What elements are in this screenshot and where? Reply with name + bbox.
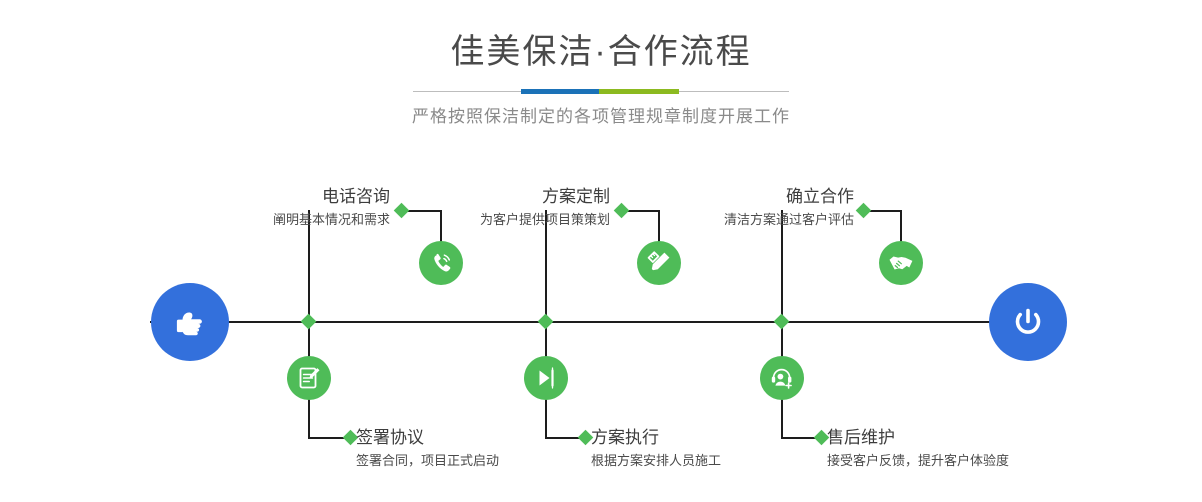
step-desc-6: 接受客户反馈，提升客户体验度 [827, 451, 1127, 471]
step-desc-5: 清洁方案通过客户评估 [604, 210, 854, 230]
pointing-hand-icon [169, 301, 211, 343]
play-next-icon [533, 365, 559, 391]
pencil-ruler-icon [645, 249, 673, 277]
step-desc-3: 为客户提供项目策策划 [360, 210, 610, 230]
header: 佳美保洁·合作流程 严格按照保洁制定的各项管理规章制度开展工作 [0, 30, 1202, 129]
label-marker-5 [856, 203, 872, 219]
title-divider [413, 88, 789, 96]
divider-segment-blue [521, 89, 599, 94]
step-icon-4[interactable] [524, 356, 568, 400]
step-title-6: 售后维护 [827, 427, 1127, 449]
step-desc-1: 阐明基本情况和需求 [140, 210, 390, 230]
divider-segment-green [599, 89, 679, 94]
step-title-5: 确立合作 [604, 186, 854, 208]
timeline-node-marker-6 [774, 314, 790, 330]
step-label-1: 电话咨询 阐明基本情况和需求 [140, 186, 390, 230]
timeline-node-marker-2 [301, 314, 317, 330]
timeline-axis [150, 321, 1052, 323]
document-edit-icon [296, 365, 322, 391]
flow-end-marker [989, 283, 1067, 361]
timeline-node-marker-4 [538, 314, 554, 330]
step-icon-3[interactable] [637, 241, 681, 285]
step-icon-6[interactable] [760, 356, 804, 400]
process-flow-infographic: 佳美保洁·合作流程 严格按照保洁制定的各项管理规章制度开展工作 [0, 0, 1202, 502]
step-icon-2[interactable] [287, 356, 331, 400]
power-icon [1007, 301, 1049, 343]
page-title: 佳美保洁·合作流程 [0, 30, 1202, 74]
customer-support-icon [769, 365, 795, 391]
page-subtitle: 严格按照保洁制定的各项管理规章制度开展工作 [0, 105, 1202, 129]
step-icon-5[interactable] [879, 241, 923, 285]
step-label-5: 确立合作 清洁方案通过客户评估 [604, 186, 854, 230]
flow-start-marker [151, 283, 229, 361]
handshake-icon [887, 249, 915, 277]
step-icon-1[interactable] [419, 241, 463, 285]
step-label-3: 方案定制 为客户提供项目策策划 [360, 186, 610, 230]
step-title-3: 方案定制 [360, 186, 610, 208]
phone-ring-icon [427, 249, 455, 277]
step-title-1: 电话咨询 [140, 186, 390, 208]
step-label-6: 售后维护 接受客户反馈，提升客户体验度 [827, 427, 1127, 471]
